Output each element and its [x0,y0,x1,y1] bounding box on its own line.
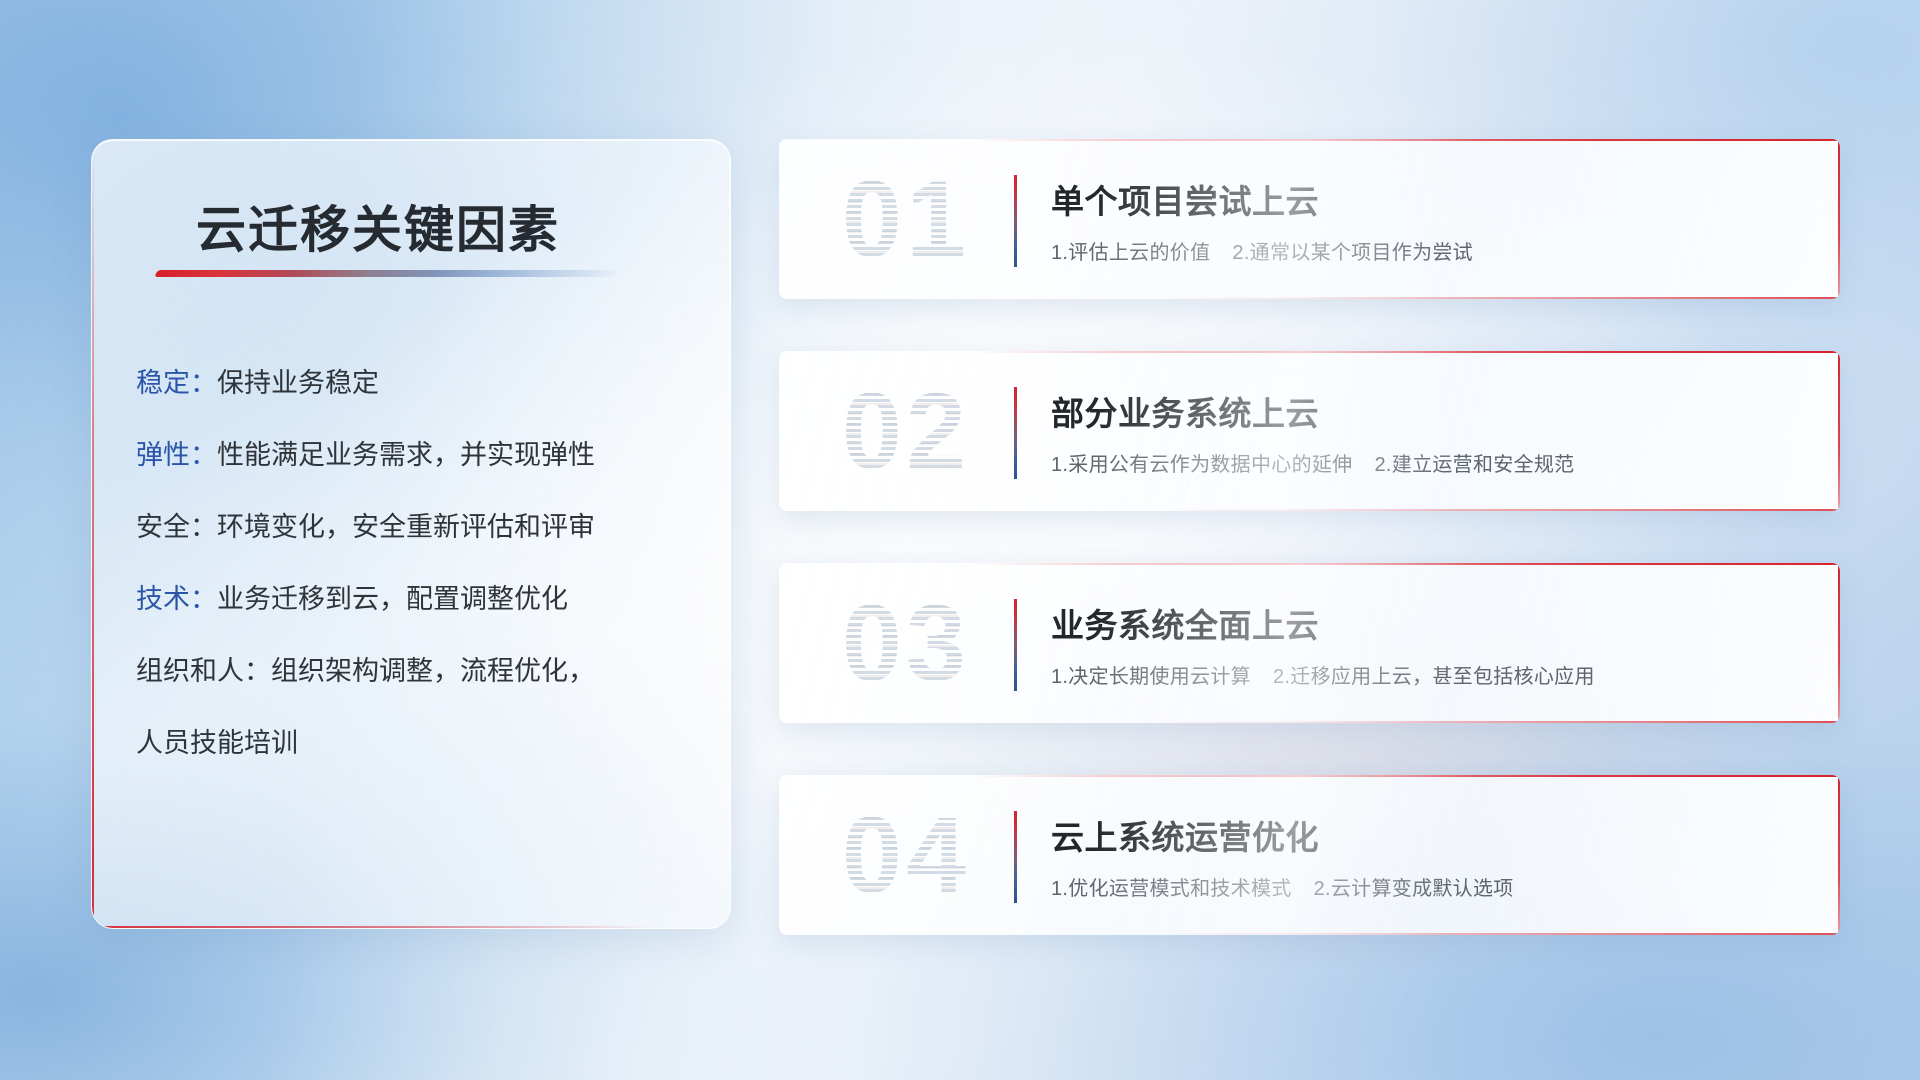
stage-title-01: 单个项目尝试上云 [1051,175,1319,223]
key-factors-panel: 云迁移关键因素 稳定：保持业务稳定 弹性：性能满足业务需求，并实现弹性 安全：环… [91,139,731,929]
card-top-red-edge [970,351,1840,353]
stage-point-2: 2.云计算变成默认选项 [1314,878,1514,900]
key-factor-label: 安全： [136,512,217,542]
key-factor-value: 环境变化，安全重新评估和评审 [217,512,595,542]
key-factor-item: 安全：环境变化，安全重新评估和评审 [136,514,700,541]
stage-point-2: 2.建立运营和安全规范 [1374,454,1574,476]
key-factor-item: 技术：业务迁移到云，配置调整优化 [136,586,700,613]
stage-points-02: 1.采用公有云作为数据中心的延伸2.建立运营和安全规范 [1051,448,1574,477]
key-factor-value: 组织架构调整，流程优化， [271,656,595,686]
key-factor-label: 弹性： [136,440,217,470]
stage-points-04: 1.优化运营模式和技术模式2.云计算变成默认选项 [1051,872,1514,901]
key-factors-list: 稳定：保持业务稳定 弹性：性能满足业务需求，并实现弹性 安全：环境变化，安全重新… [136,370,700,757]
key-factor-item-continuation: 人员技能培训 [136,730,700,757]
panel-left-red-edge [92,150,94,929]
card-right-red-edge [1838,351,1840,511]
stage-points-01: 1.评估上云的价值2.通常以某个项目作为尝试 [1051,236,1473,265]
key-factor-item: 稳定：保持业务稳定 [136,370,700,397]
card-bottom-red-edge [1161,297,1840,299]
stage-card-02[interactable]: 02 02 部分业务系统上云 1.采用公有云作为数据中心的延伸2.建立运营和安全… [779,351,1840,511]
card-bottom-red-edge [1161,721,1840,723]
stage-number-04: 04 [811,799,1001,911]
stage-point-1: 1.评估上云的价值 [1051,242,1210,264]
card-top-red-edge [970,563,1840,565]
key-factor-item: 弹性：性能满足业务需求，并实现弹性 [136,442,700,469]
stage-divider-bar [1014,175,1017,267]
card-bottom-red-edge [1161,933,1840,935]
card-bottom-red-edge [1161,509,1840,511]
panel-title: 云迁移关键因素 [196,190,560,262]
card-right-red-edge [1838,563,1840,723]
panel-title-underline [154,270,618,277]
key-factor-label: 组织和人： [136,656,271,686]
key-factor-label: 技术： [136,584,217,614]
stage-card-04[interactable]: 04 04 云上系统运营优化 1.优化运营模式和技术模式2.云计算变成默认选项 [779,775,1840,935]
key-factor-label: 稳定： [136,368,217,398]
stage-point-1: 1.优化运营模式和技术模式 [1051,878,1292,900]
stage-card-01[interactable]: 01 01 单个项目尝试上云 1.评估上云的价值2.通常以某个项目作为尝试 [779,139,1840,299]
key-factor-value: 业务迁移到云，配置调整优化 [217,584,568,614]
stage-divider-bar [1014,387,1017,479]
panel-bottom-red-edge [92,926,653,928]
key-factor-item: 组织和人：组织架构调整，流程优化， [136,658,700,685]
stage-title-02: 部分业务系统上云 [1051,387,1319,435]
key-factor-value: 保持业务稳定 [217,368,379,398]
stage-point-1: 1.决定长期使用云计算 [1051,666,1251,688]
stage-card-03[interactable]: 03 03 业务系统全面上云 1.决定长期使用云计算2.迁移应用上云，甚至包括核… [779,563,1840,723]
card-right-red-edge [1838,139,1840,299]
stage-divider-bar [1014,811,1017,903]
stage-number-03: 03 [811,587,1001,699]
stage-point-2: 2.迁移应用上云，甚至包括核心应用 [1273,666,1595,688]
stage-title-04: 云上系统运营优化 [1051,811,1319,859]
panel-right-highlight [729,140,730,928]
stage-point-1: 1.采用公有云作为数据中心的延伸 [1051,454,1352,476]
stage-title-03: 业务系统全面上云 [1051,599,1319,647]
slide-stage: 云迁移关键因素 稳定：保持业务稳定 弹性：性能满足业务需求，并实现弹性 安全：环… [0,0,1920,1080]
card-right-red-edge [1838,775,1840,935]
key-factor-value: 人员技能培训 [136,728,298,758]
stage-number-02: 02 [811,375,1001,487]
key-factor-value: 性能满足业务需求，并实现弹性 [217,440,595,470]
stage-points-03: 1.决定长期使用云计算2.迁移应用上云，甚至包括核心应用 [1051,660,1595,689]
stage-divider-bar [1014,599,1017,691]
card-top-red-edge [970,139,1840,141]
card-top-red-edge [970,775,1840,777]
stage-number-01: 01 [811,163,1001,275]
stage-point-2: 2.通常以某个项目作为尝试 [1232,242,1473,264]
